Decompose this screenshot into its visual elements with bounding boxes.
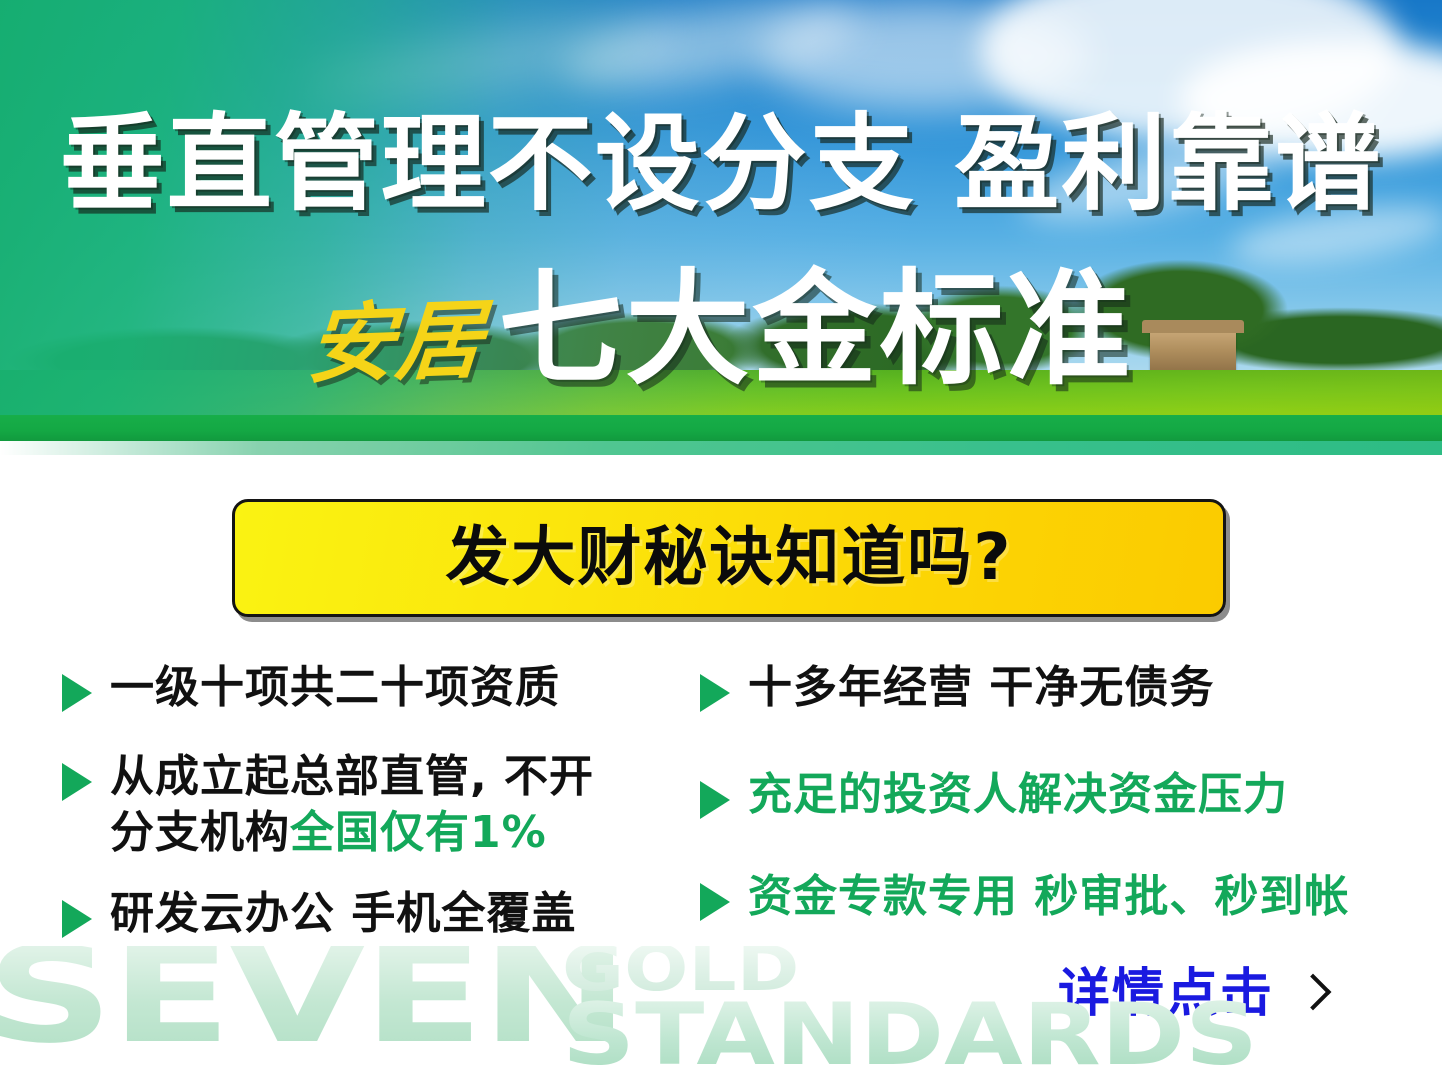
- triangle-bullet-icon: [62, 763, 92, 801]
- feature-text: 资金专款专用 秒审批、秒到帐: [748, 869, 1349, 924]
- hero-headline-secondary-row: 安居 七大金标准: [0, 268, 1442, 392]
- triangle-bullet-icon: [700, 674, 730, 712]
- list-item: 充足的投资人解决资金压力: [700, 767, 1400, 822]
- feature-text: 充足的投资人解决资金压力: [748, 767, 1288, 822]
- hero-banner: 垂直管理不设分支 盈利靠谱 安居 七大金标准: [0, 0, 1442, 455]
- list-item: 十多年经营 干净无债务: [700, 660, 1400, 715]
- feature-text-line1: 从成立起总部直管, 不开: [110, 751, 594, 802]
- list-item: 从成立起总部直管, 不开 分支机构全国仅有1%: [62, 749, 682, 860]
- hero-bottom-gradient-strip: [0, 441, 1442, 455]
- list-item: 研发云办公 手机全覆盖: [62, 886, 682, 941]
- question-banner[interactable]: 发大财秘诀知道吗?: [232, 499, 1226, 617]
- triangle-bullet-icon: [62, 900, 92, 938]
- triangle-bullet-icon: [700, 883, 730, 921]
- feature-text-highlight: 全国仅有1%: [290, 807, 547, 858]
- features-column-right: 十多年经营 干净无债务 充足的投资人解决资金压力 资金专款专用 秒审批、秒到帐: [700, 660, 1400, 948]
- hero-headline-secondary: 七大金标准: [498, 268, 1133, 392]
- triangle-bullet-icon: [62, 674, 92, 712]
- details-cta-link[interactable]: 详情点击: [1058, 968, 1324, 1020]
- feature-text: 十多年经营 干净无债务: [748, 660, 1214, 715]
- list-item: 一级十项共二十项资质: [62, 660, 682, 715]
- hero-headline-primary: 垂直管理不设分支 盈利靠谱: [0, 112, 1442, 217]
- list-item: 资金专款专用 秒审批、秒到帐: [700, 869, 1400, 924]
- details-cta-label: 详情点击: [1058, 968, 1274, 1020]
- chevron-right-icon: [1298, 972, 1324, 1016]
- features-column-left: 一级十项共二十项资质 从成立起总部直管, 不开 分支机构全国仅有1% 研发云办公…: [62, 660, 682, 966]
- feature-text-line2: 分支机构: [110, 807, 290, 858]
- promo-poster: 垂直管理不设分支 盈利靠谱 安居 七大金标准 发大财秘诀知道吗? 一级十项共二十…: [0, 0, 1442, 1066]
- triangle-bullet-icon: [700, 781, 730, 819]
- features-section: 一级十项共二十项资质 从成立起总部直管, 不开 分支机构全国仅有1% 研发云办公…: [0, 660, 1442, 960]
- feature-text: 一级十项共二十项资质: [110, 660, 560, 715]
- hero-bottom-green-bar: [0, 415, 1442, 441]
- feature-text-multiline: 从成立起总部直管, 不开 分支机构全国仅有1%: [110, 749, 594, 860]
- question-banner-text: 发大财秘诀知道吗?: [445, 526, 1012, 590]
- brand-name-anju: 安居: [305, 297, 488, 395]
- feature-text: 研发云办公 手机全覆盖: [110, 886, 576, 941]
